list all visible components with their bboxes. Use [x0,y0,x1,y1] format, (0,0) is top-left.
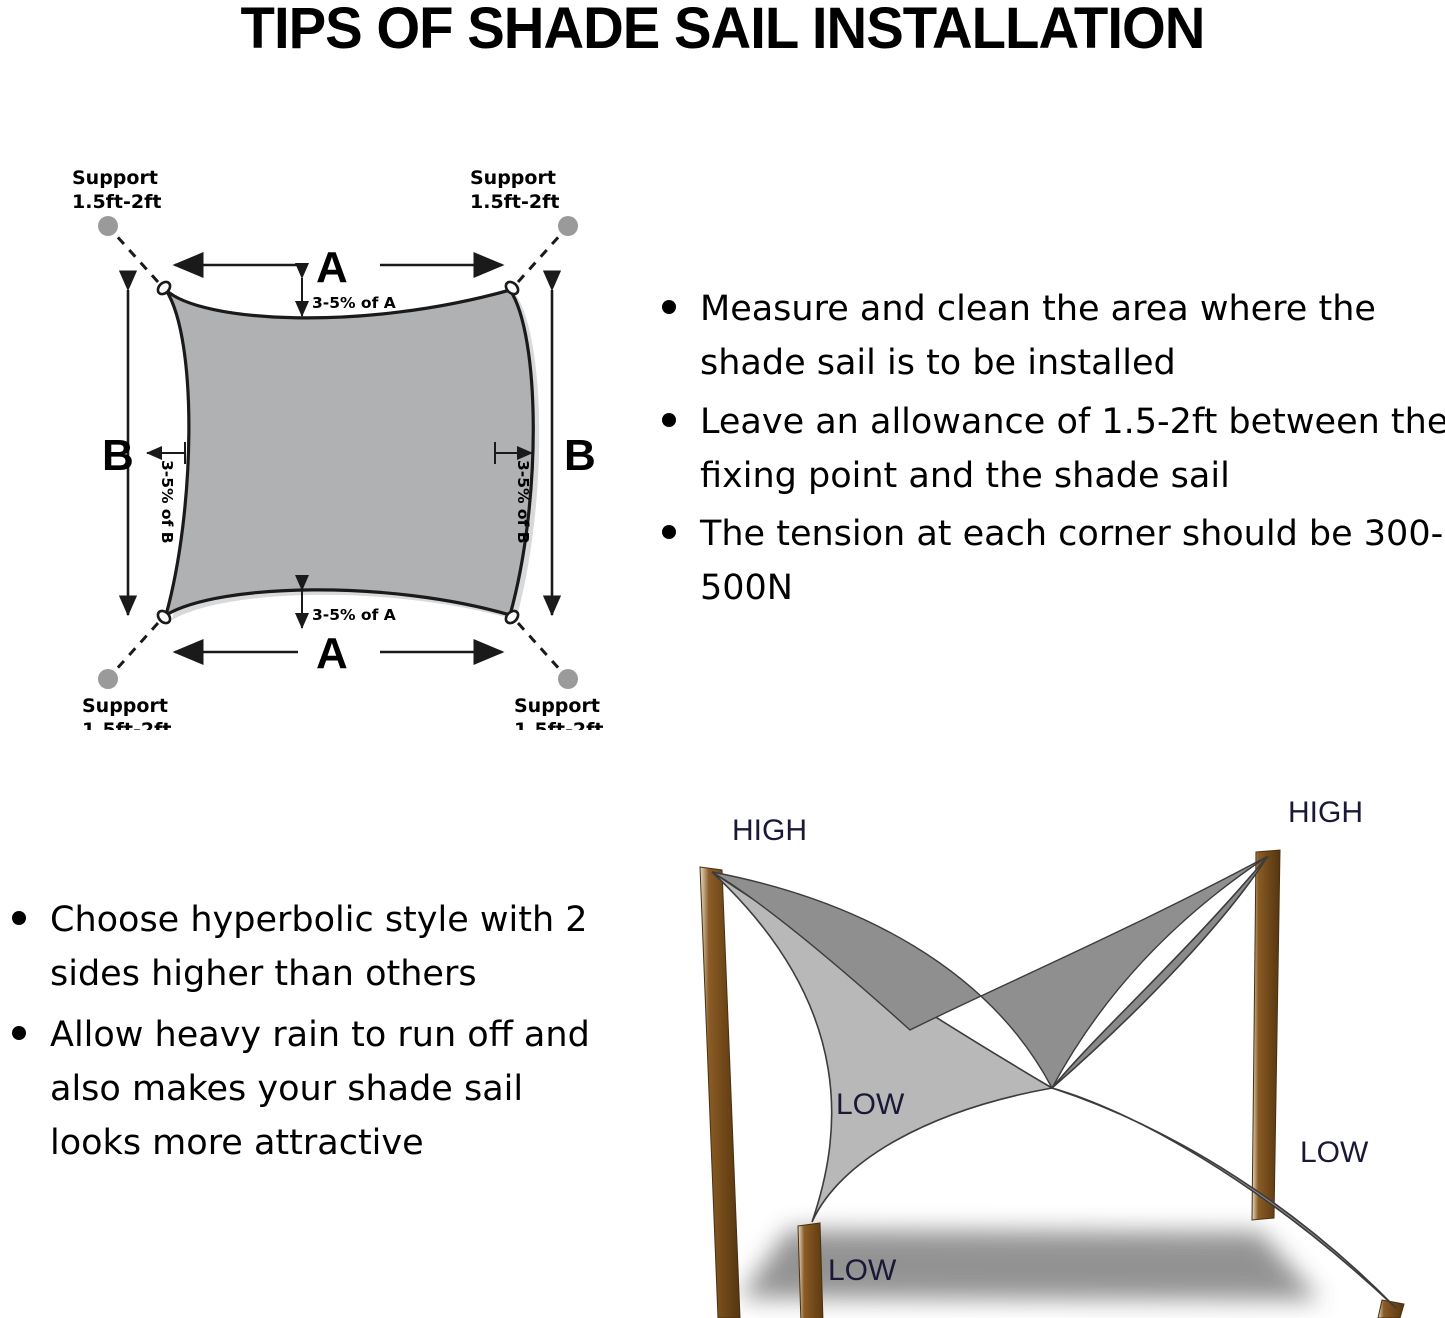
tips-list-right: Measure and clean the area where the sha… [650,282,1445,620]
support-label-line2: 1.5ft-2ft [514,719,603,730]
label-high-right: HIGH [1288,796,1363,829]
dimension-label-a-top: A [316,243,348,292]
curve-percent-top: 3-5% of A [312,294,396,312]
label-high-left: HIGH [732,814,807,847]
support-label-bottom-right: Support 1.5ft-2ft [514,695,603,730]
curve-percent-right: 3-5% of B [514,460,532,544]
tip-item: Choose hyperbolic style with 2 sides hig… [0,893,620,1002]
dimension-label-b-left-text: B [102,431,134,480]
hyperbolic-sail-diagram: HIGH HIGH LOW LOW [660,780,1445,1318]
support-label-bottom-left: Support 1.5ft-2ft [82,695,171,730]
label-low-right-overlay: LOW [1300,1136,1368,1170]
dimension-label-b-right: B [564,431,596,480]
ground-shadow [740,1230,1320,1300]
tip-item: Allow heavy rain to run off and also mak… [0,1008,620,1171]
curve-percent-left: 3-5% of B [158,460,176,544]
tips-list-bottom-left: Choose hyperbolic style with 2 sides hig… [0,893,620,1176]
tip-item: The tension at each corner should be 300… [650,507,1445,616]
support-label-top-left: Support 1.5ft-2ft [72,167,161,213]
support-label-line1: Support [72,167,158,189]
curve-percent-bottom: 3-5% of A [312,606,396,624]
support-label-line2: 1.5ft-2ft [72,191,161,213]
support-label-line2: 1.5ft-2ft [82,719,171,730]
support-label-line1: Support [514,695,600,717]
post-high-left [700,867,740,1318]
post-high-right [1252,850,1280,1220]
dimension-label-a-bottom: A [316,629,348,678]
page-title: TIPS OF SHADE SAIL INSTALLATION [22,0,1424,62]
support-label-line2: 1.5ft-2ft [470,191,559,213]
sail-shape [166,290,539,620]
label-low-left: LOW [828,1254,897,1287]
square-sail-diagram: Support 1.5ft-2ft Support 1.5ft-2ft Supp… [40,160,640,730]
sail-panel-light [712,872,1052,1222]
support-label-top-right: Support 1.5ft-2ft [470,167,559,213]
support-label-line1: Support [82,695,168,717]
label-low-left-overlay: LOW [836,1088,904,1122]
tip-item: Measure and clean the area where the sha… [650,282,1445,391]
tip-item: Leave an allowance of 1.5-2ft between th… [650,395,1445,504]
support-label-line1: Support [470,167,556,189]
